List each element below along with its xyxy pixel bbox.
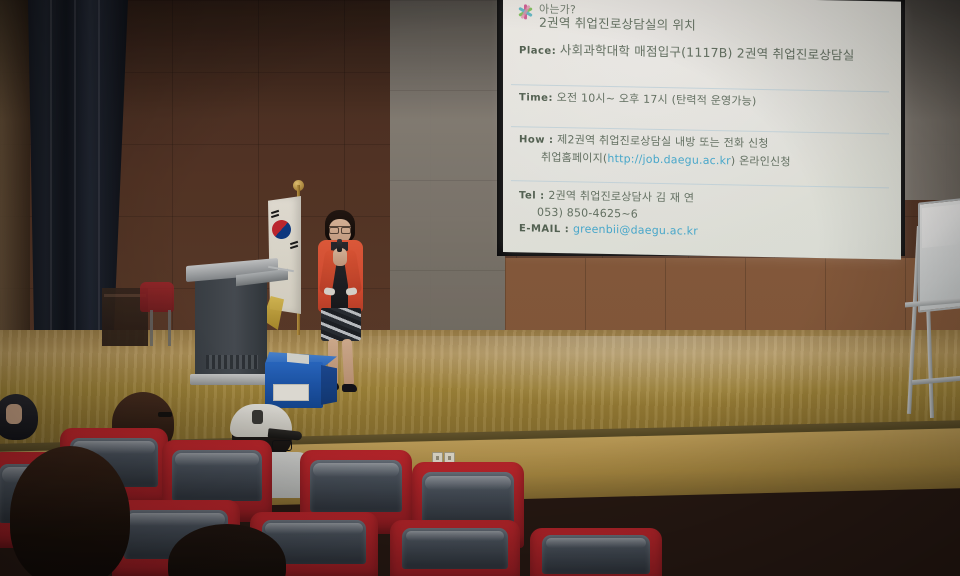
projection-screen: 아는가? 2권역 취업진로상담실의 위치 Place: 사회과학대학 매점입구(…	[503, 0, 901, 260]
slide-contact-block: Tel : 2권역 취업진로상담사 김 재 연 053) 850-4625~6 …	[519, 187, 698, 240]
email-label: E-MAIL :	[519, 223, 569, 235]
crate-label	[273, 384, 309, 401]
time-label: Time:	[519, 92, 553, 104]
whiteboard-glare	[922, 204, 960, 248]
stage-curtain	[28, 0, 128, 330]
how-value-line2-pre: 취업홈페이지(	[519, 150, 607, 165]
auditorium-seat[interactable]	[390, 520, 520, 576]
handheld-microphone	[337, 239, 342, 252]
asterisk-flower-icon	[517, 3, 534, 20]
tel-value: 2권역 취업진로상담사 김 재 연	[548, 189, 694, 205]
tel-number: 053) 850-4625~6	[519, 205, 638, 220]
auditorium-photo-scene: 아는가? 2권역 취업진로상담실의 위치 Place: 사회과학대학 매점입구(…	[0, 0, 960, 576]
slide-how-line: How : 제2권역 취업진로상담실 내방 또는 전화 신청 취업홈페이지(ht…	[519, 130, 791, 170]
audience-hand	[6, 404, 22, 424]
slide-title-line2: 2권역 취업진로상담실의 위치	[539, 15, 696, 33]
cap-logo-icon	[252, 410, 263, 424]
tel-label: Tel :	[519, 190, 545, 201]
audience-member-foreground-left	[10, 446, 130, 576]
how-value-line1: 제2권역 취업진로상담실 내방 또는 전화 신청	[557, 133, 768, 150]
slide-divider-3	[511, 180, 889, 188]
audience-member-cap-glasses	[272, 440, 292, 451]
auditorium-seat[interactable]	[530, 528, 662, 576]
email-value[interactable]: greenbii@daegu.ac.kr	[573, 222, 698, 237]
presentation-slide: 아는가? 2권역 취업진로상담실의 위치 Place: 사회과학대학 매점입구(…	[503, 0, 901, 260]
time-value: 오전 10시~ 오후 17시 (탄력적 운영가능)	[557, 91, 757, 108]
crate-side-face	[321, 365, 337, 405]
slide-time-line: Time: 오전 10시~ 오후 17시 (탄력적 운영가능)	[519, 88, 757, 109]
slide-title-row: 아는가? 2권역 취업진로상담실의 위치	[517, 2, 889, 36]
place-value: 사회과학대학 매점입구(1117B) 2권역 취업진로상담실	[560, 42, 855, 63]
stage-floor-reflection	[320, 336, 960, 406]
podium-base	[190, 374, 274, 385]
how-value-link[interactable]: http://job.daegu.ac.kr	[607, 152, 730, 167]
stage-chair	[140, 282, 174, 312]
presenter-right-leg	[342, 339, 354, 386]
presenter-patterned-skirt	[321, 308, 361, 341]
presenter-left-cuff	[324, 287, 336, 296]
how-value-line2-post: ) 온라인신청	[731, 154, 791, 168]
slide-title-block: 아는가? 2권역 취업진로상담실의 위치	[539, 3, 696, 33]
podium-vent	[206, 355, 258, 369]
how-label: How :	[519, 134, 553, 146]
south-korean-flag	[268, 196, 301, 314]
place-label: Place:	[519, 45, 556, 57]
blue-storage-crate	[265, 352, 337, 408]
presenter-right-shoe	[342, 384, 357, 392]
slide-place-line: Place: 사회과학대학 매점입구(1117B) 2권역 취업진로상담실	[519, 38, 854, 63]
presenter-glasses	[329, 226, 351, 232]
audience-member-glasses-arm	[158, 412, 172, 417]
